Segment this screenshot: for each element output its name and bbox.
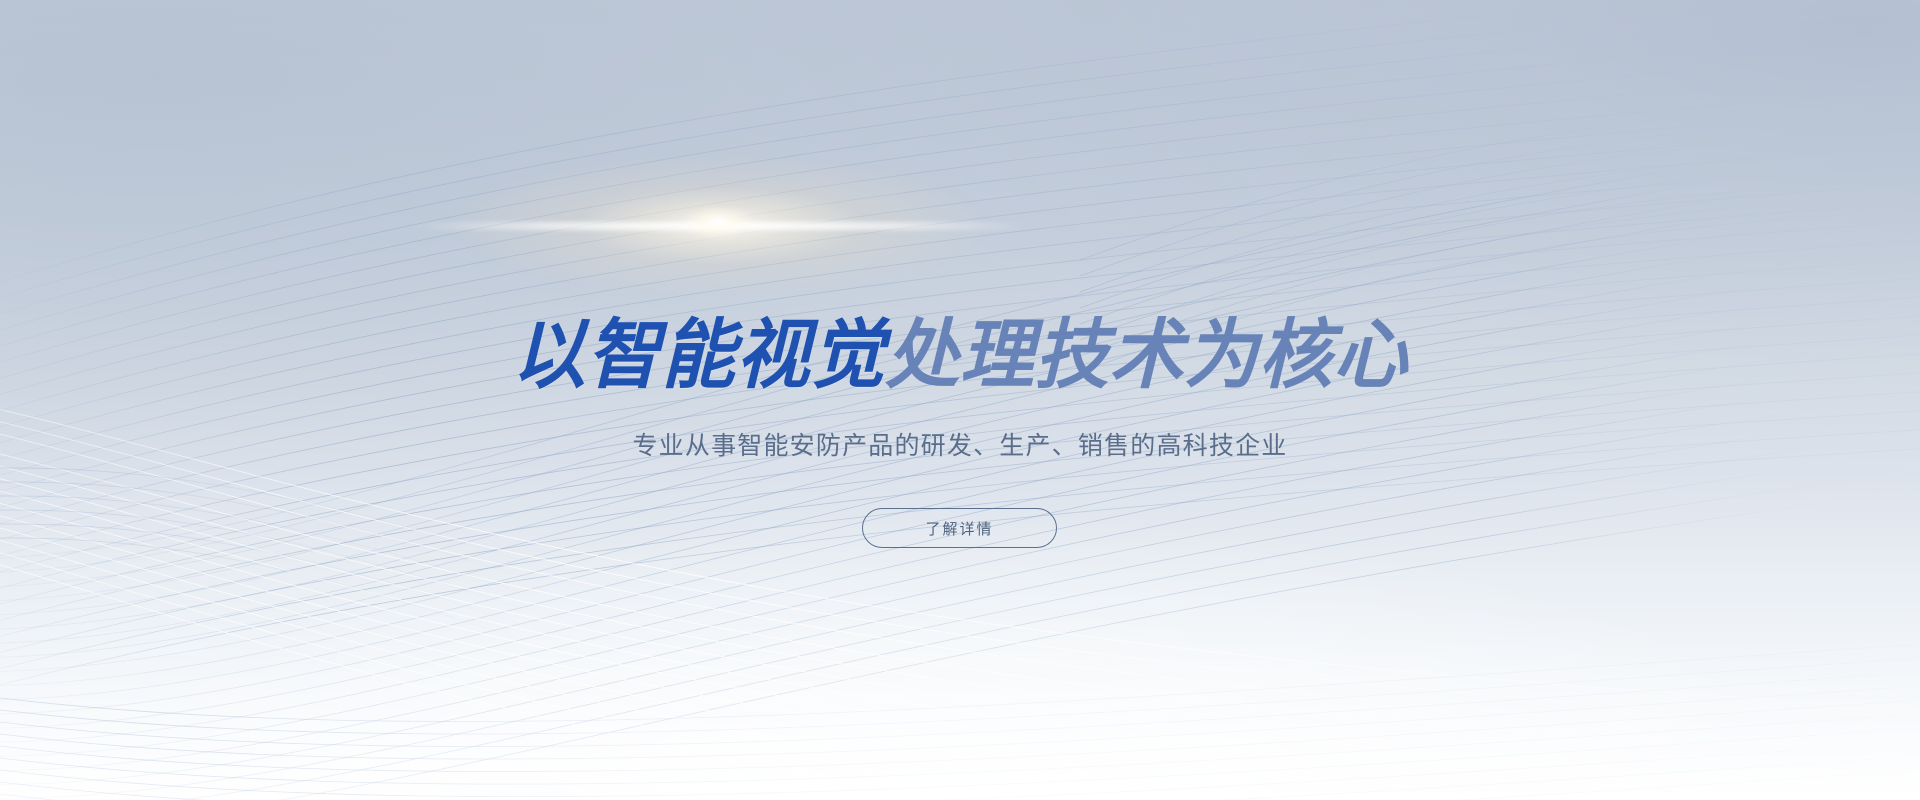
page-title: 以智能视觉处理技术为核心	[29, 313, 1891, 399]
headline-segment-secondary: 处理技术为核心	[885, 313, 1408, 398]
hero-banner: 以智能视觉处理技术为核心 专业从事智能安防产品的研发、生产、销售的高科技企业 了…	[0, 0, 1920, 800]
learn-more-button[interactable]: 了解详情	[862, 508, 1057, 548]
headline-segment-primary: 以智能视觉	[512, 313, 885, 398]
hero-content: 以智能视觉处理技术为核心 专业从事智能安防产品的研发、生产、销售的高科技企业 了…	[0, 0, 1920, 800]
page-subtitle: 专业从事智能安防产品的研发、生产、销售的高科技企业	[0, 429, 1920, 463]
